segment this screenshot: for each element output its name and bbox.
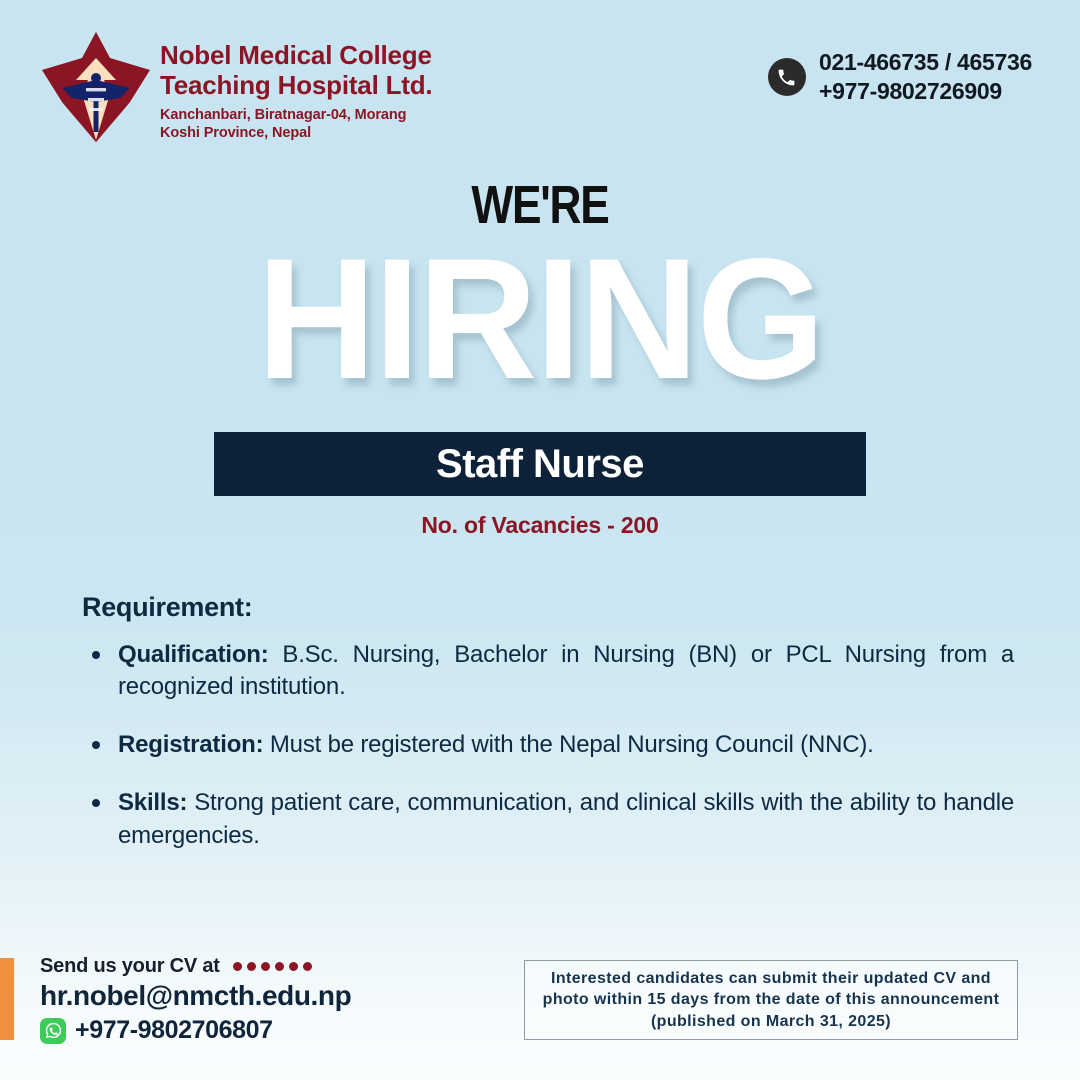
- brand-block: Nobel Medical College Teaching Hospital …: [42, 28, 432, 146]
- dot-icon: [289, 962, 298, 971]
- whatsapp-icon[interactable]: [40, 1018, 66, 1044]
- cv-contact-block: Send us your CV at hr.nobel@nmcth.edu.np…: [40, 955, 351, 1045]
- requirement-text: Strong patient care, communication, and …: [118, 789, 1014, 848]
- dot-icon: [247, 962, 256, 971]
- phone-icon: [768, 58, 806, 96]
- cv-prompt-label: Send us your CV at: [40, 955, 220, 978]
- accent-bar: [0, 958, 14, 1040]
- dot-icon: [233, 962, 242, 971]
- requirement-item: Skills: Strong patient care, communicati…: [82, 787, 1014, 851]
- requirement-label: Registration:: [118, 731, 263, 758]
- announcement-note-box: Interested candidates can submit their u…: [524, 960, 1018, 1040]
- position-title-banner: Staff Nurse: [214, 432, 866, 496]
- cv-prompt-row: Send us your CV at: [40, 955, 351, 978]
- requirement-text: Must be registered with the Nepal Nursin…: [263, 731, 873, 758]
- dot-icon: [261, 962, 270, 971]
- header-contact: 021-466735 / 465736 +977-9802726909: [768, 48, 1032, 107]
- header-phone-numbers: 021-466735 / 465736 +977-9802726909: [819, 48, 1032, 107]
- dot-icon: [303, 962, 312, 971]
- header: Nobel Medical College Teaching Hospital …: [0, 0, 1080, 165]
- cv-email[interactable]: hr.nobel@nmcth.edu.np: [40, 980, 351, 1012]
- star-caduceus-logo: [42, 28, 150, 146]
- requirements-section: Requirement: Qualification: B.Sc. Nursin…: [82, 592, 1014, 852]
- bullet-icon: [92, 741, 100, 749]
- whatsapp-row[interactable]: +977-9802706807: [40, 1016, 351, 1045]
- requirement-label: Qualification:: [118, 641, 269, 668]
- vacancies-count: No. of Vacancies - 200: [0, 512, 1080, 539]
- announcement-note-text: Interested candidates can submit their u…: [537, 968, 1005, 1032]
- requirements-list: Qualification: B.Sc. Nursing, Bachelor i…: [82, 639, 1014, 852]
- brand-text: Nobel Medical College Teaching Hospital …: [160, 28, 432, 143]
- dots-decoration: [233, 962, 317, 971]
- hero-title: HIRING: [22, 240, 1059, 398]
- hero-section: WE'RE HIRING: [0, 178, 1080, 398]
- brand-name: Nobel Medical College Teaching Hospital …: [160, 40, 432, 100]
- position-title: Staff Nurse: [436, 442, 644, 487]
- bullet-icon: [92, 651, 100, 659]
- dot-icon: [275, 962, 284, 971]
- requirement-item: Qualification: B.Sc. Nursing, Bachelor i…: [82, 639, 1014, 703]
- whatsapp-number: +977-9802706807: [75, 1016, 273, 1045]
- bullet-icon: [92, 799, 100, 807]
- brand-address: Kanchanbari, Biratnagar-04, Morang Koshi…: [160, 106, 432, 142]
- requirements-heading: Requirement:: [82, 592, 1014, 623]
- requirement-item: Registration: Must be registered with th…: [82, 729, 1014, 761]
- requirement-label: Skills:: [118, 789, 187, 816]
